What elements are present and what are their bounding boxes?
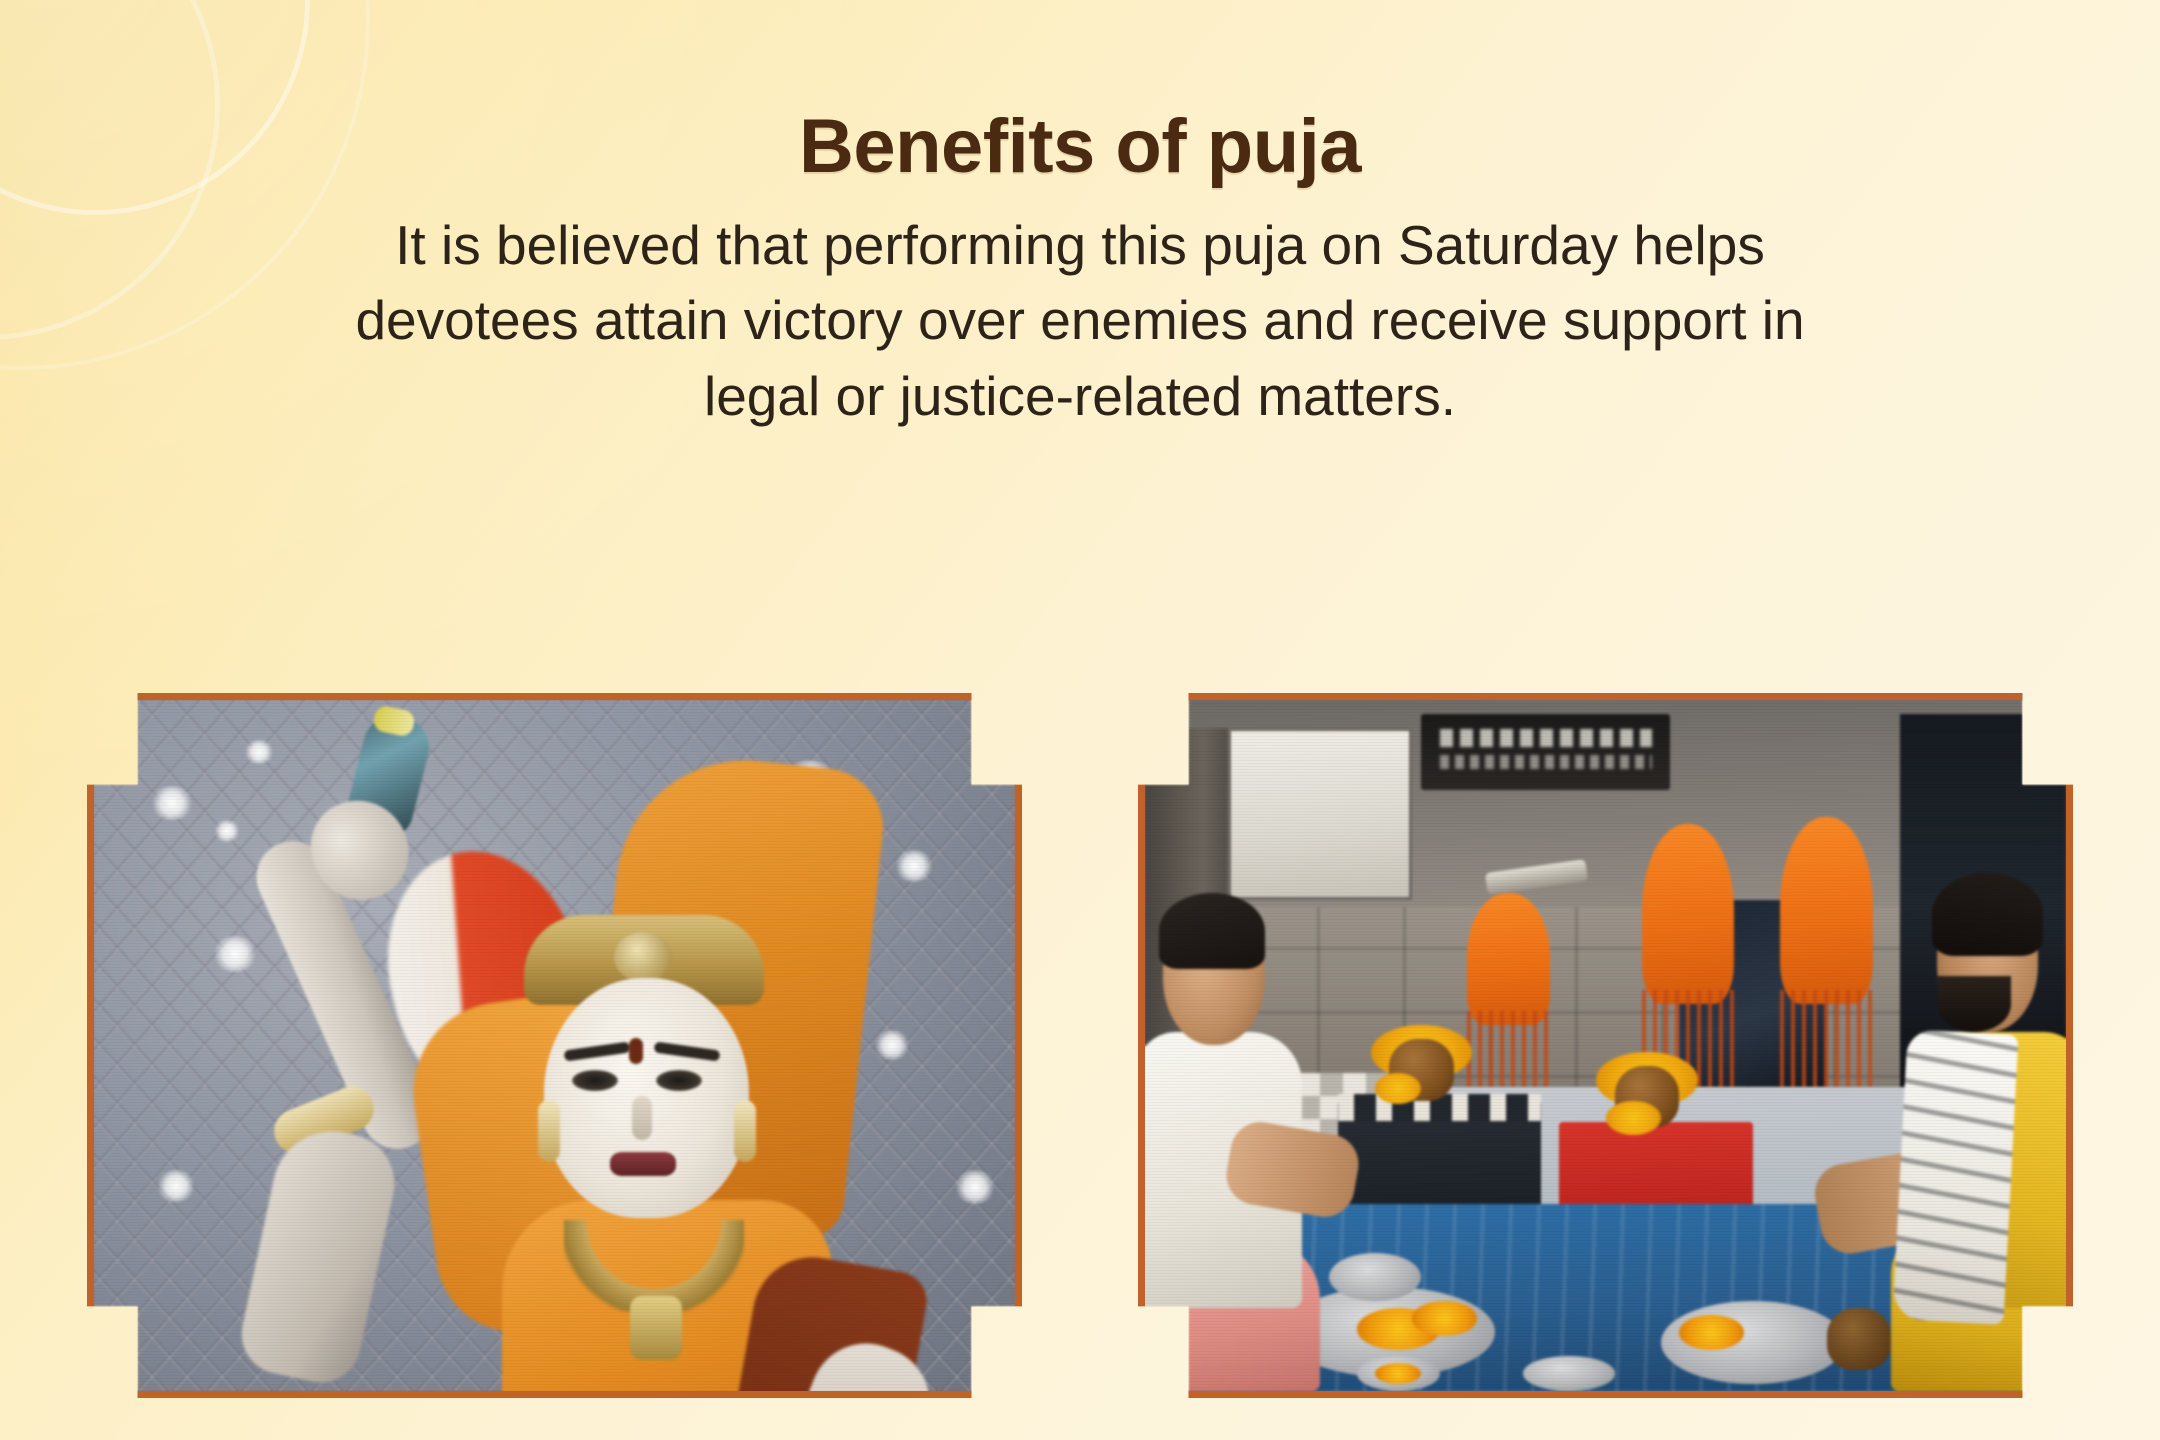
temple-scene (1145, 700, 2066, 1391)
description-line-1: It is believed that performing this puja… (110, 208, 2050, 283)
priest-beard (1937, 976, 2011, 1031)
tilak-mark (629, 1038, 643, 1064)
wall-board (1228, 728, 1412, 901)
temple-puja-photo (1145, 700, 2066, 1391)
small-bowl-1 (1329, 1253, 1421, 1301)
priest-shawl (1893, 1029, 2019, 1325)
sign-text-line-2 (1440, 755, 1652, 769)
crown-jewel (614, 932, 672, 982)
photo-frame-left (87, 693, 1022, 1398)
poster-canvas: Benefits of puja It is believed that per… (0, 0, 2160, 1440)
temple-sign-board (1421, 714, 1670, 790)
sindoor-idol-3 (1780, 817, 1872, 1004)
priest-hair (1932, 873, 2043, 956)
devotee-hair (1159, 893, 1265, 969)
eye-left (572, 1070, 618, 1091)
description-text: It is believed that performing this puja… (110, 208, 2050, 434)
lower-left-arm (234, 1120, 403, 1389)
earring-left (538, 1100, 560, 1162)
marigold-flower-2 (1606, 1101, 1661, 1136)
sign-text-line-1 (1440, 729, 1652, 747)
description-line-3: legal or justice-related matters. (110, 359, 2050, 434)
nose (632, 1096, 652, 1140)
photo-frame-right (1138, 693, 2073, 1398)
offering-2 (1412, 1301, 1476, 1336)
eye-right (656, 1070, 702, 1091)
photo-frame-border-right (1138, 693, 2073, 1398)
lips (610, 1152, 676, 1176)
photo-frame-border-left (87, 693, 1022, 1398)
description-line-2: devotees attain victory over enemies and… (110, 283, 2050, 358)
deity-idol-photo (94, 700, 1015, 1391)
small-bowl-3 (1523, 1356, 1615, 1391)
offering-4 (1679, 1315, 1743, 1350)
deity-figure (94, 700, 1015, 1391)
sindoor-idol-1 (1467, 893, 1550, 1024)
sindoor-idol-2 (1642, 824, 1734, 1004)
page-title: Benefits of puja (0, 103, 2160, 190)
earring-right (734, 1100, 756, 1162)
necklace-pendant (630, 1296, 682, 1360)
brass-lota (1827, 1308, 1891, 1370)
